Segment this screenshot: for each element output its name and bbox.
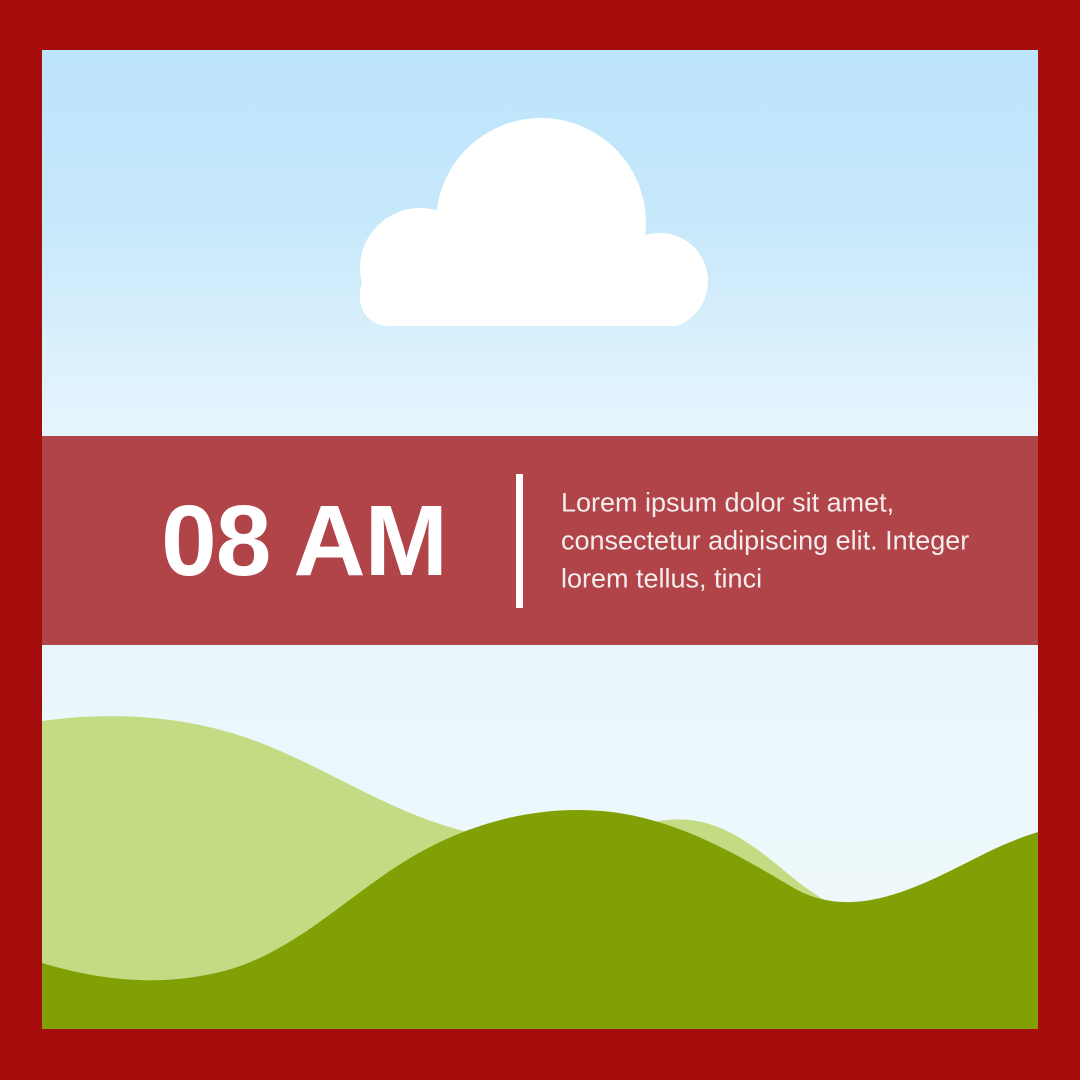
forecast-description: Lorem ipsum dolor sit amet, consectetur … xyxy=(561,483,1001,598)
forecast-time: 08 AM xyxy=(92,491,516,591)
cloud-icon xyxy=(328,118,730,326)
hills-illustration xyxy=(42,645,1038,1029)
landscape-area xyxy=(42,645,1038,1029)
banner-divider xyxy=(516,474,523,608)
weather-forecast-poster: 08 AM Lorem ipsum dolor sit amet, consec… xyxy=(0,0,1080,1080)
scene-panel: 08 AM Lorem ipsum dolor sit amet, consec… xyxy=(42,50,1038,1029)
forecast-banner: 08 AM Lorem ipsum dolor sit amet, consec… xyxy=(42,436,1038,645)
